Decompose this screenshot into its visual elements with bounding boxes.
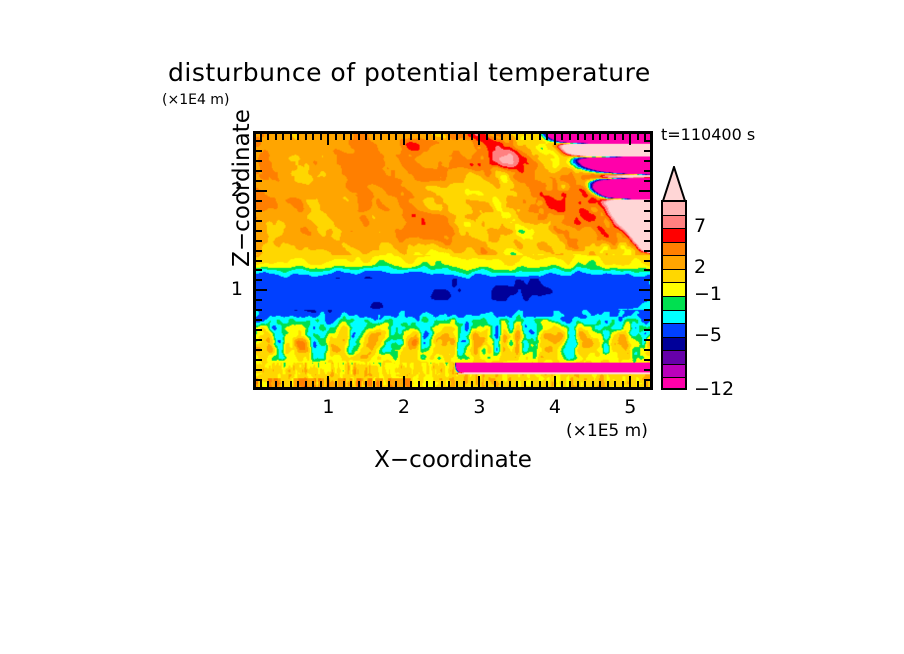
colorbar-band	[663, 229, 685, 243]
x-tick-label: 4	[535, 396, 575, 418]
x-tick-label: 3	[459, 396, 499, 418]
x-tick-label: 5	[610, 396, 650, 418]
x-tick-minor	[388, 134, 390, 140]
y-tick-minor	[644, 140, 650, 142]
x-tick-major	[554, 134, 556, 145]
y-tick-minor	[256, 369, 262, 371]
y-axis-label: Z−coordinate	[229, 98, 255, 278]
x-tick-major	[554, 376, 556, 387]
y-tick-minor	[644, 359, 650, 361]
x-tick-minor	[486, 381, 488, 387]
x-tick-minor	[320, 134, 322, 140]
x-tick-minor	[395, 134, 397, 140]
colorbar-label: −5	[694, 324, 722, 346]
y-tick-minor	[644, 250, 650, 252]
x-tick-minor	[395, 381, 397, 387]
x-tick-minor	[539, 381, 541, 387]
x-tick-minor	[441, 381, 443, 387]
x-tick-minor	[373, 134, 375, 140]
x-tick-minor	[531, 134, 533, 140]
x-tick-minor	[494, 381, 496, 387]
x-tick-minor	[418, 134, 420, 140]
x-tick-minor	[486, 134, 488, 140]
colorbar-label: −1	[694, 283, 722, 305]
x-tick-major	[478, 134, 480, 145]
y-tick-minor	[644, 339, 650, 341]
x-tick-minor	[297, 381, 299, 387]
colorbar-label: 2	[694, 256, 706, 278]
x-tick-minor	[456, 134, 458, 140]
x-tick-minor	[335, 134, 337, 140]
x-tick-minor	[622, 381, 624, 387]
y-tick-minor	[644, 269, 650, 271]
colorbar-label: −12	[694, 378, 734, 400]
colorbar-label: 7	[694, 215, 706, 237]
x-tick-minor	[350, 381, 352, 387]
x-tick-minor	[524, 134, 526, 140]
x-tick-minor	[539, 134, 541, 140]
x-axis-units-label: (×1E5 m)	[566, 421, 648, 441]
colorbar-band	[663, 378, 685, 390]
x-tick-major	[629, 376, 631, 387]
x-tick-minor	[441, 134, 443, 140]
y-tick-minor	[256, 230, 262, 232]
colorbar-band	[663, 256, 685, 270]
y-tick-minor	[644, 160, 650, 162]
x-tick-minor	[388, 381, 390, 387]
x-tick-major	[327, 134, 329, 145]
x-tick-minor	[509, 381, 511, 387]
x-tick-label: 2	[384, 396, 424, 418]
x-tick-minor	[410, 134, 412, 140]
x-tick-minor	[509, 134, 511, 140]
colorbar-band	[663, 311, 685, 325]
y-tick-minor	[256, 349, 262, 351]
y-tick-minor	[644, 240, 650, 242]
x-tick-minor	[426, 381, 428, 387]
x-tick-minor	[373, 381, 375, 387]
y-tick-minor	[256, 210, 262, 212]
contour-figure: disturbunce of potential temperature (×1…	[0, 0, 904, 654]
x-tick-minor	[592, 381, 594, 387]
y-tick-minor	[644, 369, 650, 371]
x-tick-minor	[312, 134, 314, 140]
x-tick-major	[403, 376, 405, 387]
x-tick-minor	[365, 381, 367, 387]
y-tick-minor	[644, 349, 650, 351]
x-tick-minor	[584, 381, 586, 387]
y-tick-minor	[644, 319, 650, 321]
contour-canvas	[256, 134, 650, 387]
y-tick-minor	[256, 250, 262, 252]
x-tick-minor	[561, 381, 563, 387]
x-tick-minor	[426, 134, 428, 140]
x-tick-minor	[569, 134, 571, 140]
colorbar	[661, 166, 691, 390]
x-tick-minor	[358, 134, 360, 140]
y-tick-minor	[644, 279, 650, 281]
y-tick-minor	[256, 220, 262, 222]
x-tick-minor	[524, 381, 526, 387]
x-tick-minor	[622, 134, 624, 140]
x-tick-minor	[637, 381, 639, 387]
x-tick-minor	[433, 134, 435, 140]
x-tick-minor	[471, 381, 473, 387]
y-tick-minor	[256, 299, 262, 301]
y-tick-minor	[256, 319, 262, 321]
x-tick-minor	[448, 381, 450, 387]
y-tick-minor	[256, 200, 262, 202]
x-tick-minor	[343, 381, 345, 387]
x-tick-minor	[260, 381, 262, 387]
x-tick-minor	[456, 381, 458, 387]
colorbar-bands	[661, 200, 687, 390]
x-axis-label: X−coordinate	[283, 447, 623, 473]
y-tick-minor	[644, 210, 650, 212]
colorbar-band	[663, 324, 685, 338]
y-tick-minor	[256, 160, 262, 162]
y-tick-minor	[256, 309, 262, 311]
y-tick-minor	[644, 299, 650, 301]
y-tick-minor	[256, 339, 262, 341]
x-tick-minor	[282, 134, 284, 140]
x-tick-minor	[463, 134, 465, 140]
y-tick-minor	[644, 220, 650, 222]
page-title: disturbunce of potential temperature	[168, 58, 768, 87]
x-tick-minor	[290, 134, 292, 140]
x-tick-minor	[305, 381, 307, 387]
y-tick-minor	[256, 379, 262, 381]
x-tick-minor	[501, 381, 503, 387]
y-tick-label: 1	[203, 278, 243, 300]
x-tick-minor	[267, 381, 269, 387]
x-tick-minor	[546, 381, 548, 387]
y-tick-major	[256, 190, 267, 192]
x-tick-minor	[614, 134, 616, 140]
y-tick-minor	[256, 359, 262, 361]
x-tick-major	[403, 134, 405, 145]
y-tick-minor	[256, 180, 262, 182]
x-tick-minor	[531, 381, 533, 387]
y-tick-minor	[644, 180, 650, 182]
y-tick-minor	[644, 379, 650, 381]
x-tick-minor	[463, 381, 465, 387]
x-tick-minor	[380, 381, 382, 387]
x-tick-minor	[592, 134, 594, 140]
y-tick-major	[639, 289, 650, 291]
x-tick-major	[327, 376, 329, 387]
y-tick-minor	[644, 150, 650, 152]
x-tick-minor	[569, 381, 571, 387]
colorbar-band	[663, 338, 685, 352]
x-tick-minor	[267, 134, 269, 140]
colorbar-band	[663, 365, 685, 379]
colorbar-band	[663, 297, 685, 311]
x-tick-minor	[282, 381, 284, 387]
x-tick-minor	[561, 134, 563, 140]
x-tick-minor	[358, 381, 360, 387]
x-tick-minor	[501, 134, 503, 140]
y-tick-minor	[644, 329, 650, 331]
plot-area	[253, 131, 653, 390]
x-tick-major	[478, 376, 480, 387]
y-tick-minor	[644, 170, 650, 172]
x-tick-minor	[335, 381, 337, 387]
y-tick-minor	[256, 279, 262, 281]
x-tick-minor	[275, 381, 277, 387]
x-tick-minor	[614, 381, 616, 387]
timestamp-annotation: t=110400 s	[661, 125, 755, 144]
colorbar-band	[663, 351, 685, 365]
colorbar-band	[663, 216, 685, 230]
x-tick-minor	[584, 134, 586, 140]
x-tick-major	[629, 134, 631, 145]
x-tick-minor	[320, 381, 322, 387]
y-tick-minor	[644, 260, 650, 262]
y-axis-units-label: (×1E4 m)	[162, 92, 229, 108]
x-tick-minor	[312, 381, 314, 387]
x-tick-minor	[297, 134, 299, 140]
y-tick-major	[256, 289, 267, 291]
colorbar-band	[663, 202, 685, 216]
x-tick-minor	[290, 381, 292, 387]
y-tick-major	[639, 190, 650, 192]
x-tick-minor	[418, 381, 420, 387]
y-tick-minor	[644, 309, 650, 311]
y-tick-minor	[256, 329, 262, 331]
x-tick-minor	[350, 134, 352, 140]
x-tick-minor	[365, 134, 367, 140]
x-tick-minor	[516, 381, 518, 387]
y-tick-minor	[256, 260, 262, 262]
y-tick-minor	[256, 150, 262, 152]
x-tick-minor	[275, 134, 277, 140]
x-tick-minor	[494, 134, 496, 140]
x-tick-minor	[433, 381, 435, 387]
x-tick-minor	[577, 134, 579, 140]
x-tick-minor	[471, 134, 473, 140]
x-tick-minor	[380, 134, 382, 140]
y-tick-minor	[644, 200, 650, 202]
colorbar-band	[663, 243, 685, 257]
y-tick-minor	[256, 170, 262, 172]
x-tick-minor	[305, 134, 307, 140]
x-tick-minor	[343, 134, 345, 140]
x-tick-minor	[607, 381, 609, 387]
x-tick-minor	[599, 134, 601, 140]
x-tick-minor	[644, 381, 646, 387]
y-tick-minor	[256, 140, 262, 142]
x-tick-label: 1	[308, 396, 348, 418]
colorbar-band	[663, 283, 685, 297]
x-tick-minor	[516, 134, 518, 140]
colorbar-band	[663, 270, 685, 284]
y-tick-minor	[256, 269, 262, 271]
y-tick-minor	[644, 230, 650, 232]
x-tick-minor	[607, 134, 609, 140]
y-tick-minor	[256, 240, 262, 242]
x-tick-minor	[448, 134, 450, 140]
x-tick-minor	[599, 381, 601, 387]
x-tick-minor	[410, 381, 412, 387]
colorbar-extend-arrow-icon	[661, 166, 687, 202]
x-tick-minor	[546, 134, 548, 140]
x-tick-minor	[637, 134, 639, 140]
x-tick-minor	[577, 381, 579, 387]
